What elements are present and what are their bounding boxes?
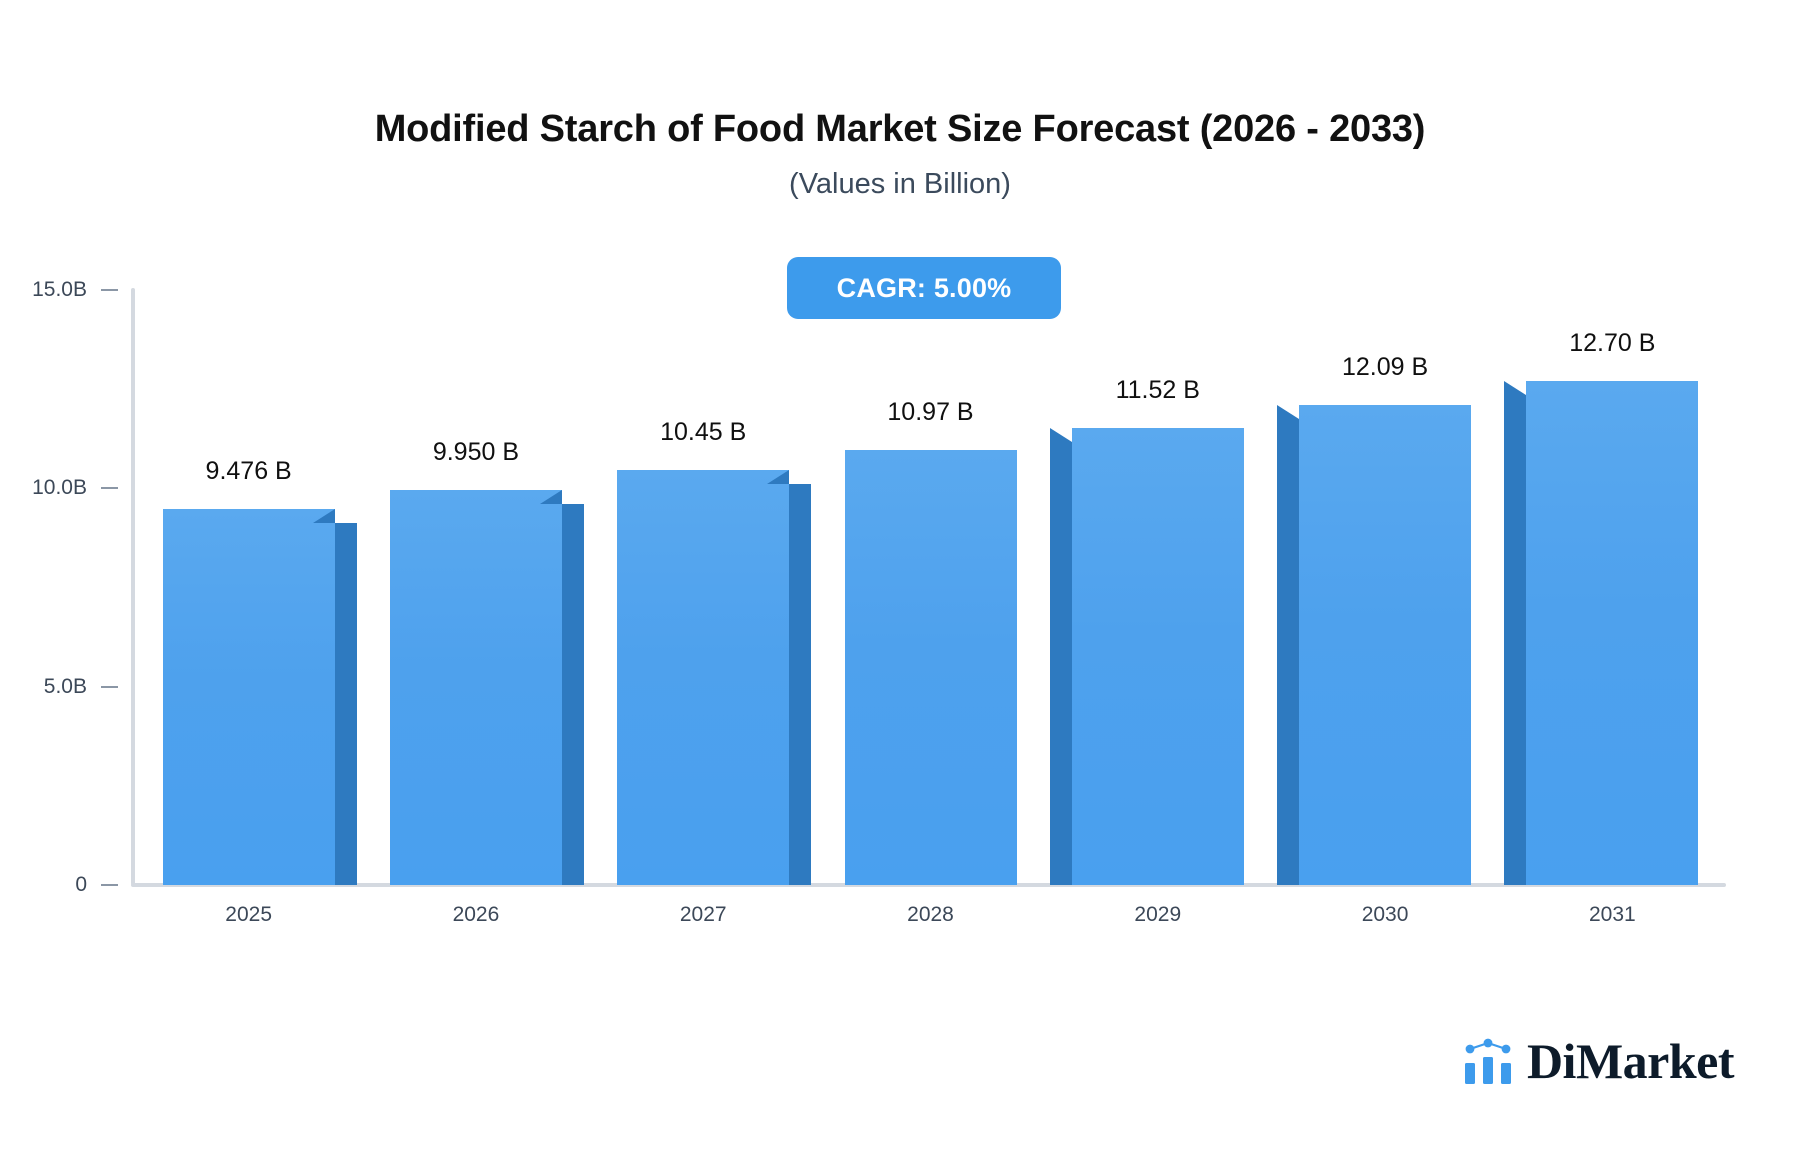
x-axis-label: 2029 (1058, 903, 1258, 927)
bar-front-face (1072, 428, 1244, 885)
bar (845, 450, 1017, 885)
logo-wordmark: DiMarket (1527, 1036, 1734, 1086)
bar-front-face (390, 490, 562, 885)
bar-top-face (767, 470, 789, 484)
bar-front-face (163, 509, 335, 885)
chart-canvas: Modified Starch of Food Market Size Fore… (0, 0, 1800, 1156)
bar-top-face (313, 509, 335, 523)
bar-top-face (540, 490, 562, 504)
x-axis-label: 2027 (603, 903, 803, 927)
x-axis-label: 2026 (376, 903, 576, 927)
bar-front-face (617, 470, 789, 885)
x-axis-label: 2031 (1512, 903, 1712, 927)
bar-side-face (1050, 442, 1072, 885)
bar-chart-trend-icon (1464, 1037, 1514, 1085)
bar-front-face (1526, 381, 1698, 885)
dimarket-logo: DiMarket (1464, 1036, 1734, 1086)
y-axis-tick-label: 5.0B (44, 675, 87, 699)
y-axis-tick-mark (101, 686, 118, 688)
y-axis-tick: 15.0B (0, 278, 128, 302)
bar-top-face (1277, 405, 1299, 419)
y-axis-tick-label: 15.0B (32, 278, 87, 302)
bar-front-face (845, 450, 1017, 885)
bar-top-face (1504, 381, 1526, 395)
bar-value-label: 12.70 B (1462, 329, 1762, 358)
x-axis-label: 2028 (831, 903, 1031, 927)
bar (163, 509, 335, 885)
bar (1526, 381, 1698, 885)
y-axis-tick-mark (101, 884, 118, 886)
bar-front-face (1299, 405, 1471, 885)
y-axis-tick-label: 0 (75, 873, 87, 897)
bar (1299, 405, 1471, 885)
x-axis-label: 2030 (1285, 903, 1485, 927)
y-axis-line (131, 288, 135, 885)
y-axis-tick-mark (101, 487, 118, 489)
bar (390, 490, 562, 885)
y-axis-tick-label: 10.0B (32, 476, 87, 500)
bar-side-face (789, 484, 811, 885)
bar-side-face (1504, 395, 1526, 885)
bar (1072, 428, 1244, 885)
x-axis-label: 2025 (149, 903, 349, 927)
y-axis-tick-mark (101, 289, 118, 291)
bar-top-face (1050, 428, 1072, 442)
bar-side-face (1277, 419, 1299, 885)
bar (617, 470, 789, 885)
y-axis-tick: 5.0B (0, 675, 128, 699)
y-axis-tick: 0 (0, 873, 128, 897)
bar-side-face (335, 523, 357, 885)
bar-side-face (562, 504, 584, 885)
plot-area: 05.0B10.0B15.0B 202520262027202820292030… (0, 0, 1800, 1156)
